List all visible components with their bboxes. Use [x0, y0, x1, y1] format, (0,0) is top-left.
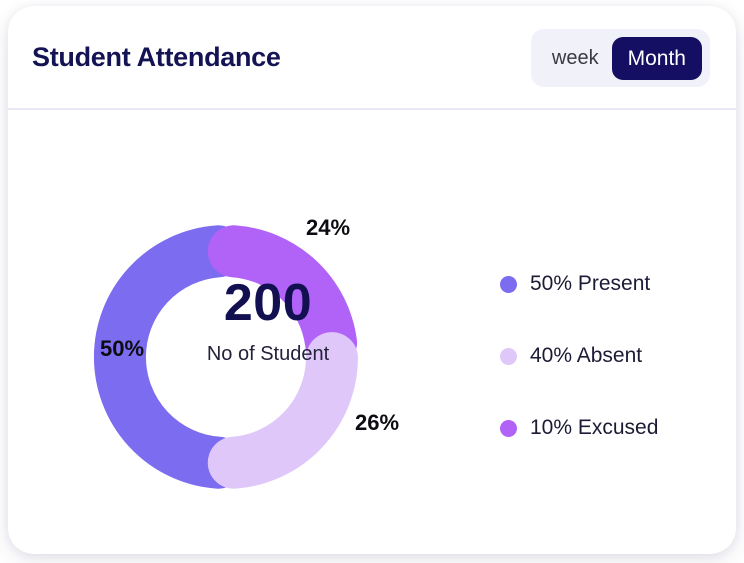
student-count-value: 200	[148, 277, 388, 329]
donut-chart: 50% 24% 26% 200 No of Student	[8, 162, 468, 552]
legend-dot-icon	[500, 420, 517, 437]
legend-dot-icon	[500, 348, 517, 365]
legend-item-present[interactable]: 50% Present	[500, 248, 720, 320]
page-title: Student Attendance	[32, 42, 281, 73]
legend-label-absent: 40% Absent	[530, 344, 642, 368]
slice-label-excused: 24%	[306, 215, 350, 241]
toggle-option-month[interactable]: Month	[612, 37, 702, 80]
chart-legend: 50% Present 40% Absent 10% Excused	[500, 248, 720, 464]
chart-body: 50% 24% 26% 200 No of Student 50% Presen…	[8, 110, 736, 554]
card-header: Student Attendance week Month	[8, 6, 736, 110]
screen: Student Attendance week Month 50% 24% 26…	[0, 0, 744, 563]
legend-label-excused: 10% Excused	[530, 416, 658, 440]
legend-item-excused[interactable]: 10% Excused	[500, 392, 720, 464]
legend-dot-icon	[500, 276, 517, 293]
donut-slice-absent[interactable]	[234, 358, 332, 463]
student-attendance-card: Student Attendance week Month 50% 24% 26…	[8, 6, 736, 554]
toggle-option-week[interactable]: week	[539, 48, 612, 68]
legend-label-present: 50% Present	[530, 272, 650, 296]
range-toggle-group[interactable]: week Month	[531, 29, 710, 87]
legend-item-absent[interactable]: 40% Absent	[500, 320, 720, 392]
student-count-caption: No of Student	[148, 343, 388, 366]
donut-center: 200 No of Student	[148, 277, 388, 366]
slice-label-present: 50%	[100, 336, 144, 362]
slice-label-absent: 26%	[355, 410, 399, 436]
